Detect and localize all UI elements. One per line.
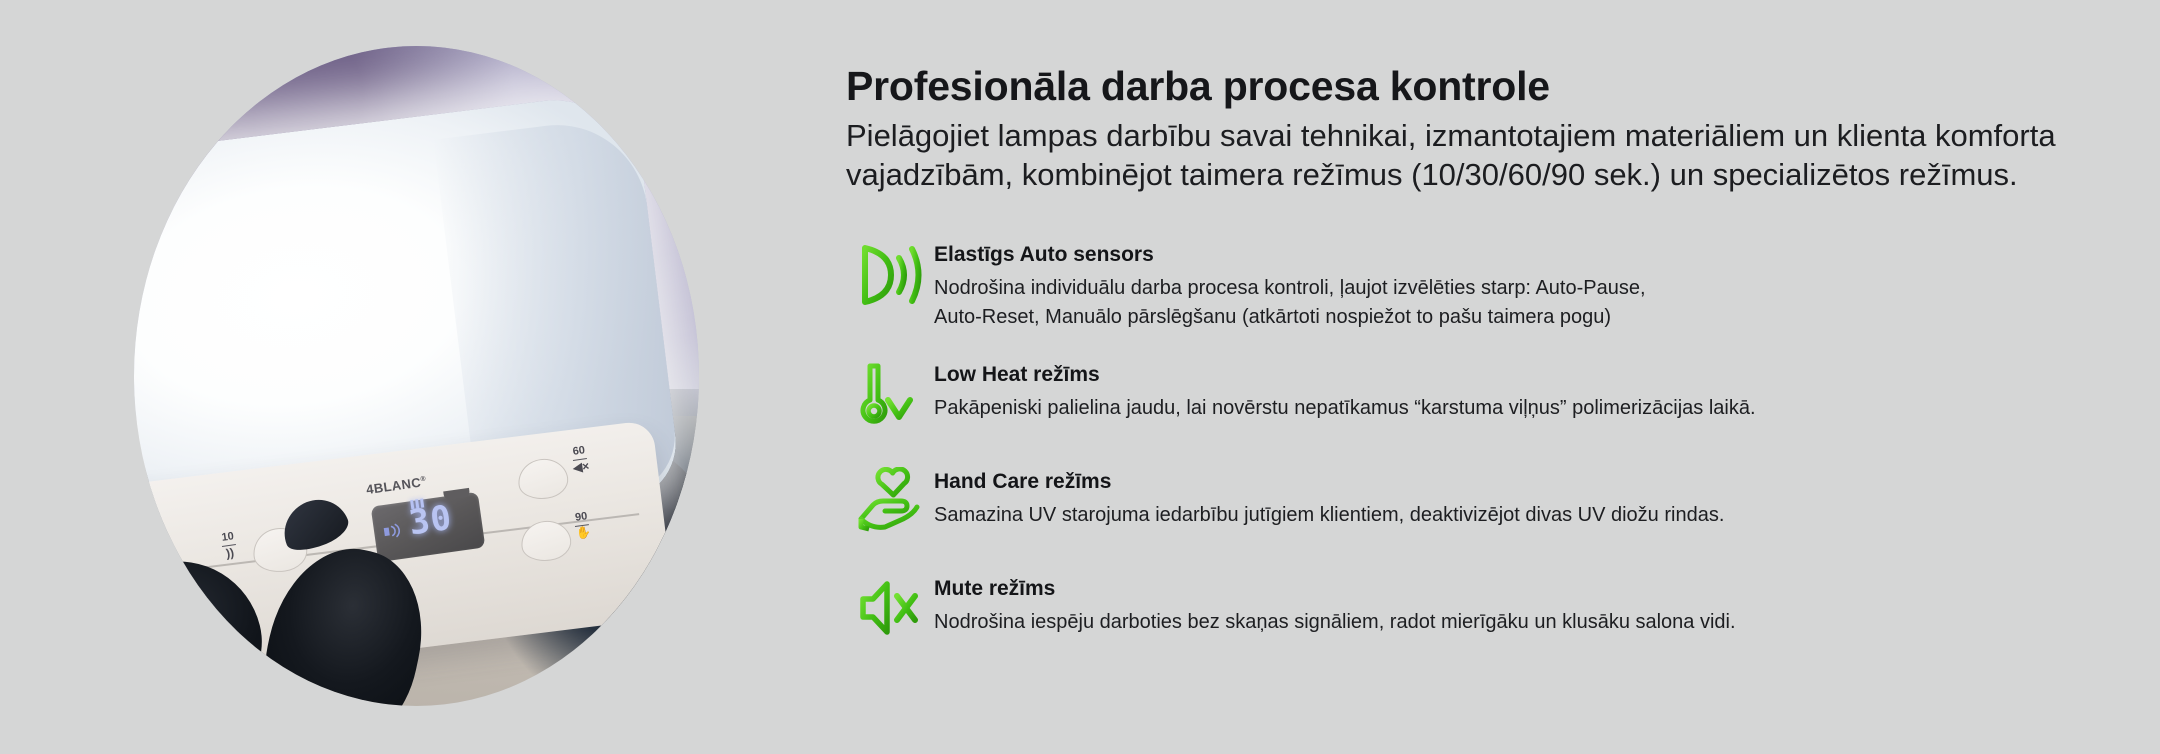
feature-text: Mute režīms Nodrošina iespēju darboties … — [934, 572, 2096, 637]
sensor-symbol-icon: )) — [222, 546, 238, 562]
lamp-label-60-value: 60 — [572, 445, 586, 459]
feature-description: Nodrošina individuālu darba procesa kont… — [934, 274, 2096, 331]
page-title: Profesionāla darba procesa kontrole — [846, 64, 2096, 110]
lamp-label-90-value: 90 — [574, 511, 588, 525]
feature-desc-line-1: Nodrošina individuālu darba procesa kont… — [934, 277, 1646, 299]
led-sensor-icon — [381, 521, 403, 540]
feature-title: Hand Care režīms — [934, 469, 2096, 494]
auto-sensor-icon — [846, 238, 934, 318]
feature-description: Samazina UV starojuma iedarbību jutīgiem… — [934, 501, 2096, 529]
hand-symbol-icon: ✋ — [575, 526, 592, 542]
feature-text: Elastīgs Auto sensors Nodrošina individu… — [934, 238, 2096, 331]
page-subtitle: Pielāgojiet lampas darbību savai tehnika… — [846, 116, 2056, 194]
lamp-label-10-value: 10 — [220, 530, 234, 544]
feature-text: Low Heat režīms Pakāpeniski palielina ja… — [934, 358, 2096, 423]
feature-title: Elastīgs Auto sensors — [934, 242, 2096, 267]
product-photo: 4BLANC® 30 — [134, 46, 699, 706]
hand-care-heart-icon — [846, 465, 934, 545]
feature-item-mute: Mute režīms Nodrošina iespēju darboties … — [846, 572, 2096, 652]
feature-title: Low Heat režīms — [934, 362, 2096, 387]
mute-symbol-icon: ◀× — [572, 460, 590, 476]
feature-description: Nodrošina iespēju darboties bez skaņas s… — [934, 608, 2096, 636]
feature-desc-line-2: Auto-Reset, Manuālo pārslēgšanu (atkārto… — [934, 303, 2096, 331]
circular-photo-mask: 4BLANC® 30 — [134, 46, 699, 706]
mute-speaker-icon — [846, 572, 934, 652]
feature-list: Elastīgs Auto sensors Nodrošina individu… — [846, 238, 2096, 652]
feature-title: Mute režīms — [934, 576, 2096, 601]
feature-item-hand-care: Hand Care režīms Samazina UV starojuma i… — [846, 465, 2096, 545]
low-heat-thermometer-icon — [846, 358, 934, 438]
led-timer-value: 30 — [407, 501, 454, 541]
feature-text: Hand Care režīms Samazina UV starojuma i… — [934, 465, 2096, 530]
feature-description: Pakāpeniski palielina jaudu, lai novērst… — [934, 394, 2096, 422]
brand-registered-mark: ® — [420, 476, 426, 484]
product-feature-banner: 4BLANC® 30 — [0, 0, 2160, 754]
feature-item-low-heat: Low Heat režīms Pakāpeniski palielina ja… — [846, 358, 2096, 438]
feature-item-auto-sensor: Elastīgs Auto sensors Nodrošina individu… — [846, 238, 2096, 331]
text-column: Profesionāla darba procesa kontrole Piel… — [846, 64, 2096, 652]
